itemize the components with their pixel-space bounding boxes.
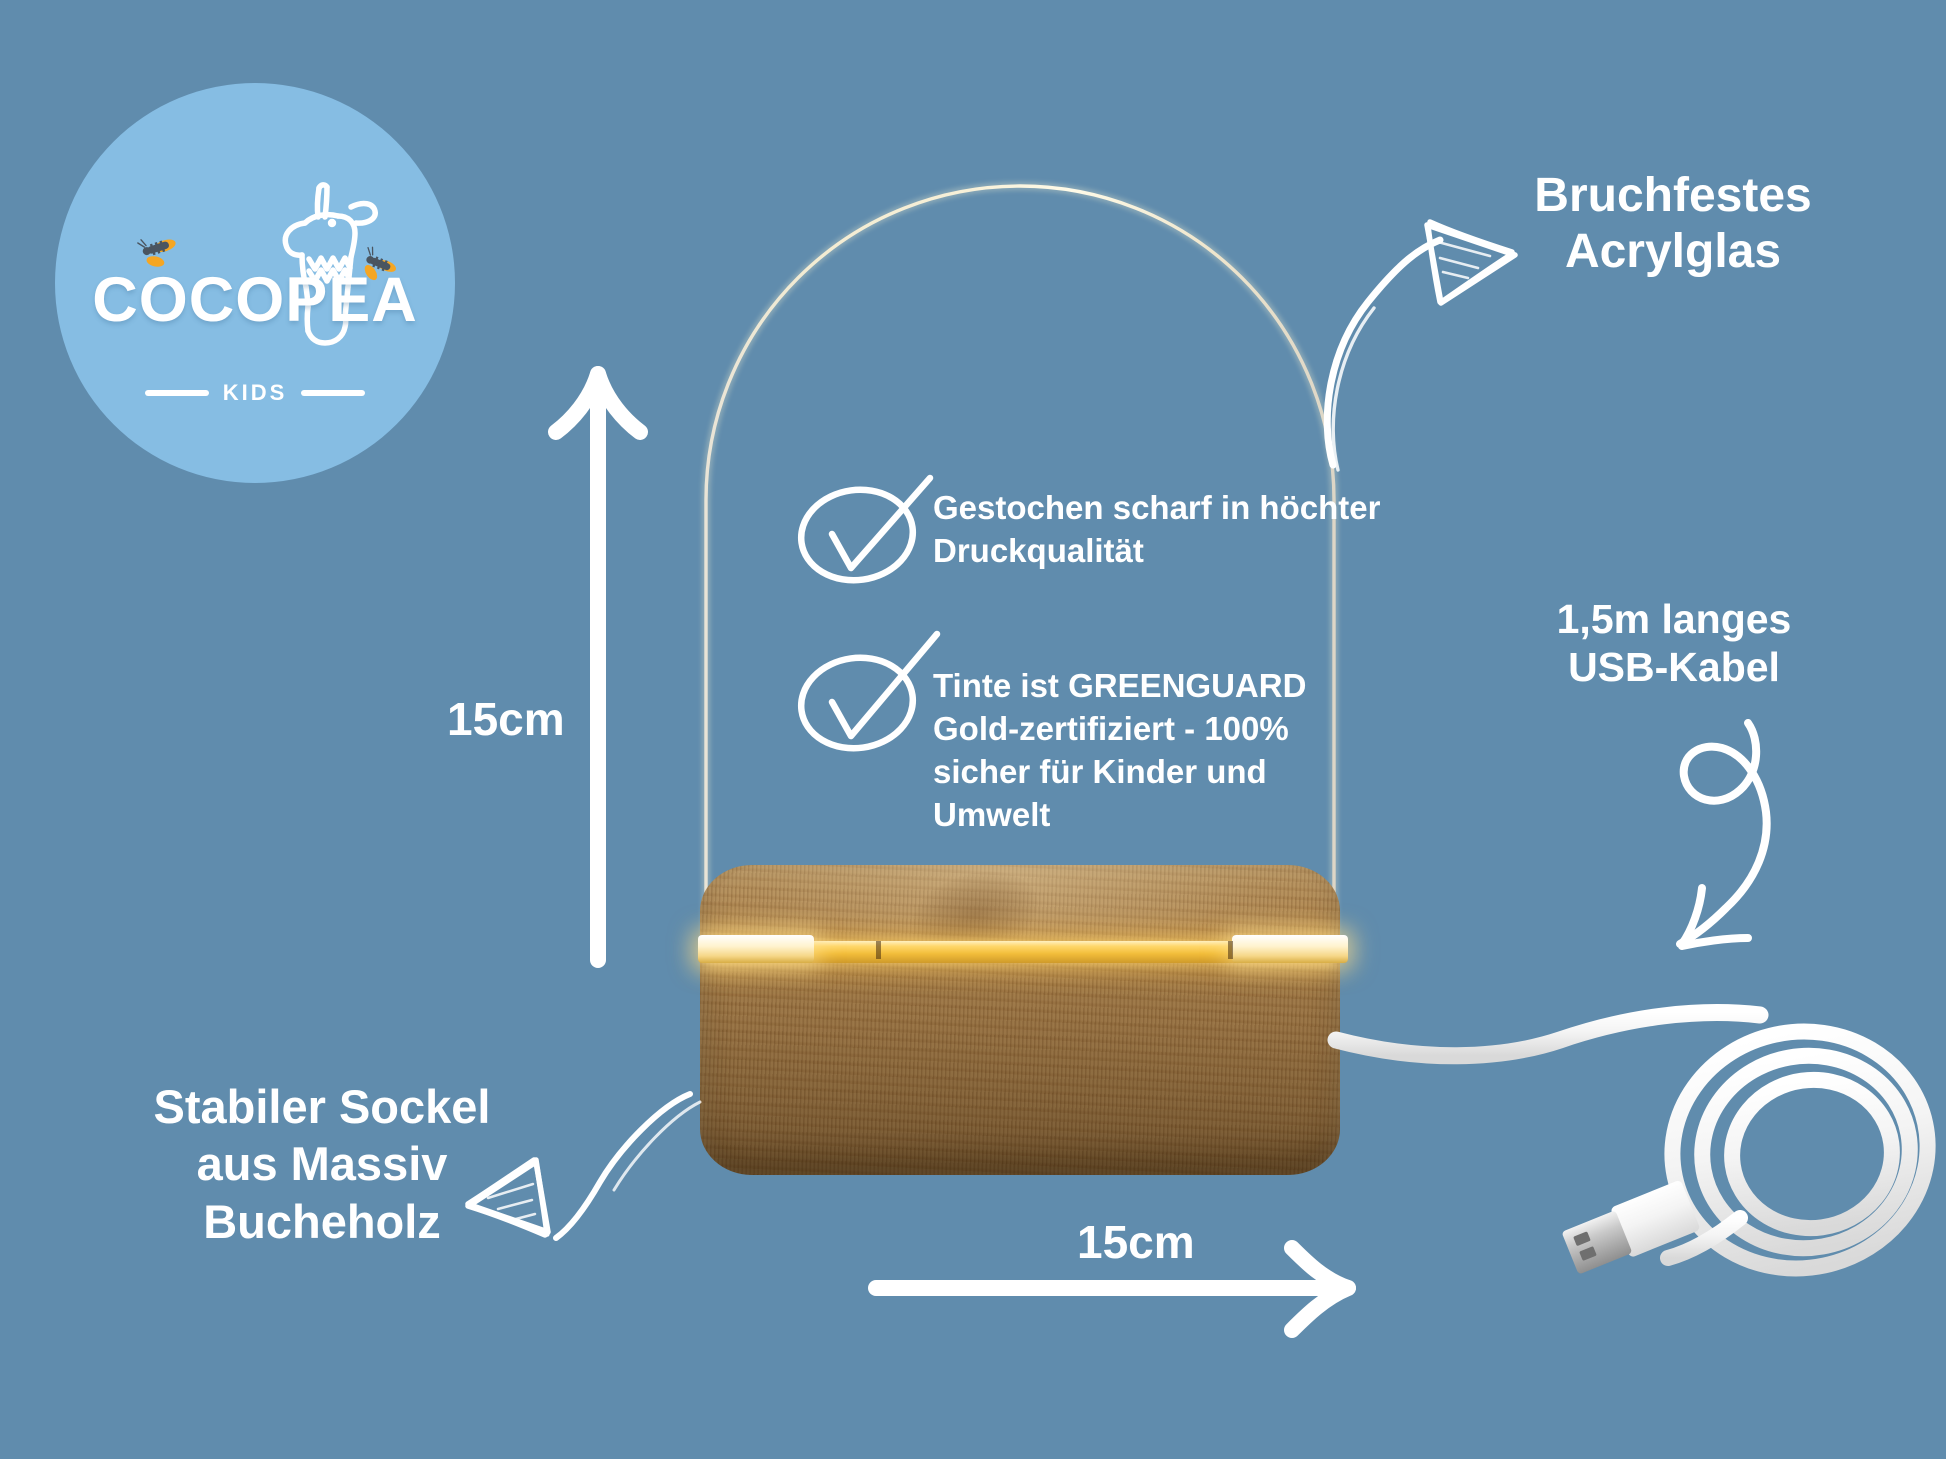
label-acrylic: Bruchfestes Acrylglas [1438,168,1908,279]
feature-2-line3: sicher für Kinder und [933,751,1353,794]
feature-2-line1: Tinte ist GREENGUARD [933,665,1353,708]
wooden-base [700,865,1340,1175]
label-acrylic-line1: Bruchfestes [1438,168,1908,224]
led-slot-cap-left [698,935,814,963]
led-notch-left [876,941,881,959]
product-infographic: COCOPEA KIDS [0,0,1946,1459]
feature-2-line4: Umwelt [933,794,1353,837]
label-cable-line1: 1,5m langes [1474,596,1874,644]
label-acrylic-line2: Acrylglas [1438,224,1908,280]
feature-1-line2: Druckqualität [933,530,1403,573]
led-notch-right [1228,941,1233,959]
feature-1-line1: Gestochen scharf in höchter [933,487,1403,530]
label-base-line2: aus Massiv [112,1135,532,1192]
feature-print-quality: Gestochen scharf in höchter Druckqualitä… [933,487,1403,573]
label-cable: 1,5m langes USB-Kabel [1474,596,1874,691]
led-slot-cap-right [1232,935,1348,963]
label-base-line1: Stabiler Sockel [112,1078,532,1135]
width-dimension-label: 15cm [1077,1215,1195,1269]
label-base: Stabiler Sockel aus Massiv Bucheholz [112,1078,532,1250]
wood-sheen [713,865,1327,983]
feature-greenguard-ink: Tinte ist GREENGUARD Gold-zertifiziert -… [933,665,1353,837]
label-base-line3: Bucheholz [112,1193,532,1250]
label-cable-line2: USB-Kabel [1474,644,1874,692]
height-dimension-label: 15cm [447,692,565,746]
feature-2-line2: Gold-zertifiziert - 100% [933,708,1353,751]
